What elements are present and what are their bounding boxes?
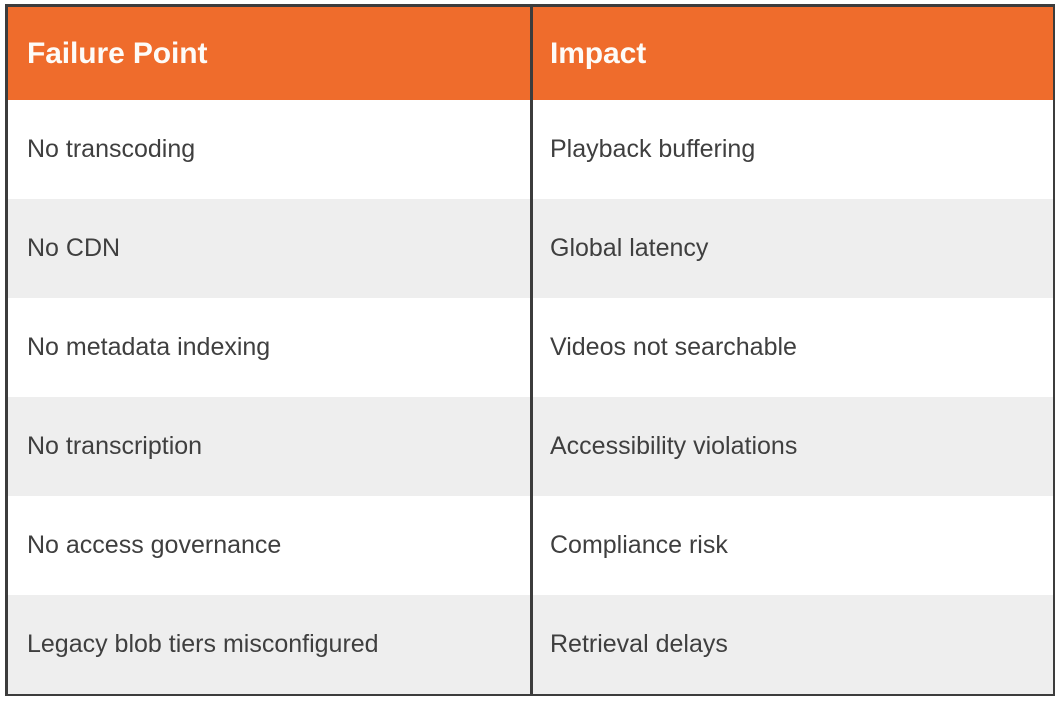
cell-impact: Retrieval delays: [531, 595, 1053, 694]
cell-failure-point: No transcription: [8, 397, 531, 496]
cell-impact: Global latency: [531, 199, 1053, 298]
cell-failure-point: No metadata indexing: [8, 298, 531, 397]
column-divider: [530, 4, 533, 696]
cell-failure-point: No access governance: [8, 496, 531, 595]
column-header-failure-point: Failure Point: [8, 7, 531, 100]
cell-impact: Playback buffering: [531, 100, 1053, 199]
cell-impact: Videos not searchable: [531, 298, 1053, 397]
cell-impact: Compliance risk: [531, 496, 1053, 595]
cell-failure-point: Legacy blob tiers misconfigured: [8, 595, 531, 694]
cell-failure-point: No CDN: [8, 199, 531, 298]
column-header-impact: Impact: [531, 7, 1053, 100]
comparison-table-container: Failure Point Impact No transcoding Play…: [0, 0, 1064, 702]
cell-failure-point: No transcoding: [8, 100, 531, 199]
cell-impact: Accessibility violations: [531, 397, 1053, 496]
